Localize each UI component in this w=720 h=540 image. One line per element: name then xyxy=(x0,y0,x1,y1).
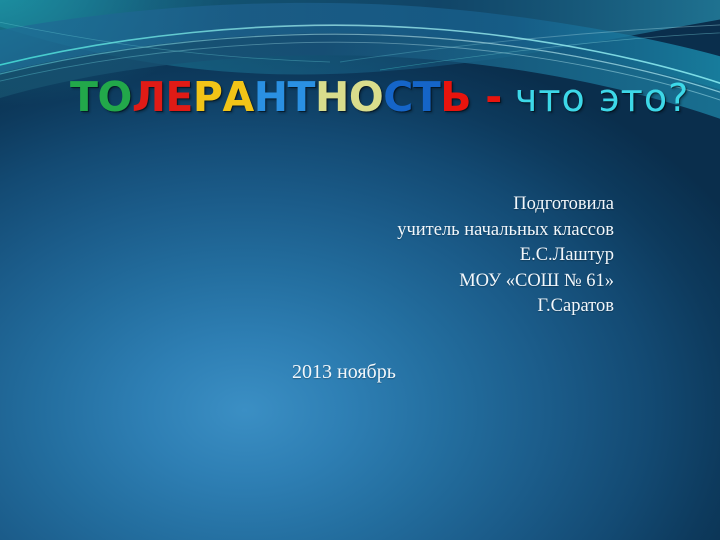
title-letter-12: Т xyxy=(413,73,440,121)
credit-line-author: Е.С.Лаштур xyxy=(194,243,614,269)
title-letter-13: Ь xyxy=(440,73,471,121)
credit-line-prepared-by: Подготовила xyxy=(194,192,614,218)
title-letter-5: Р xyxy=(193,73,223,121)
title-letter-14 xyxy=(471,73,485,121)
page-title: ТОЛЕРАНТНОСТЬ - что это? xyxy=(70,72,670,124)
title-letter-4: Е xyxy=(165,73,193,121)
title-slide: ТОЛЕРАНТНОСТЬ - что это? Подготовила учи… xyxy=(0,0,720,540)
date-text: 2013 ноябрь xyxy=(292,358,396,386)
title-letter-11: С xyxy=(383,73,413,121)
title-letter-8: Т xyxy=(288,73,315,121)
credit-line-city: Г.Саратов xyxy=(194,294,614,320)
title-letter-9: Н xyxy=(315,73,349,121)
credit-line-school: МОУ «СОШ № 61» xyxy=(194,269,614,295)
title-letter-3: Л xyxy=(132,73,166,121)
title-letter-7: Н xyxy=(254,73,288,121)
title-letter-6: А xyxy=(222,73,253,121)
title-question-text: что это? xyxy=(502,76,689,120)
credits-block: Подготовила учитель начальных классов Е.… xyxy=(194,192,614,320)
title-letter-2: О xyxy=(97,73,131,121)
title-letter-1: Т xyxy=(70,73,97,121)
credit-line-role: учитель начальных классов xyxy=(194,218,614,244)
title-letter-15: - xyxy=(485,73,502,121)
title-letter-10: О xyxy=(349,73,383,121)
